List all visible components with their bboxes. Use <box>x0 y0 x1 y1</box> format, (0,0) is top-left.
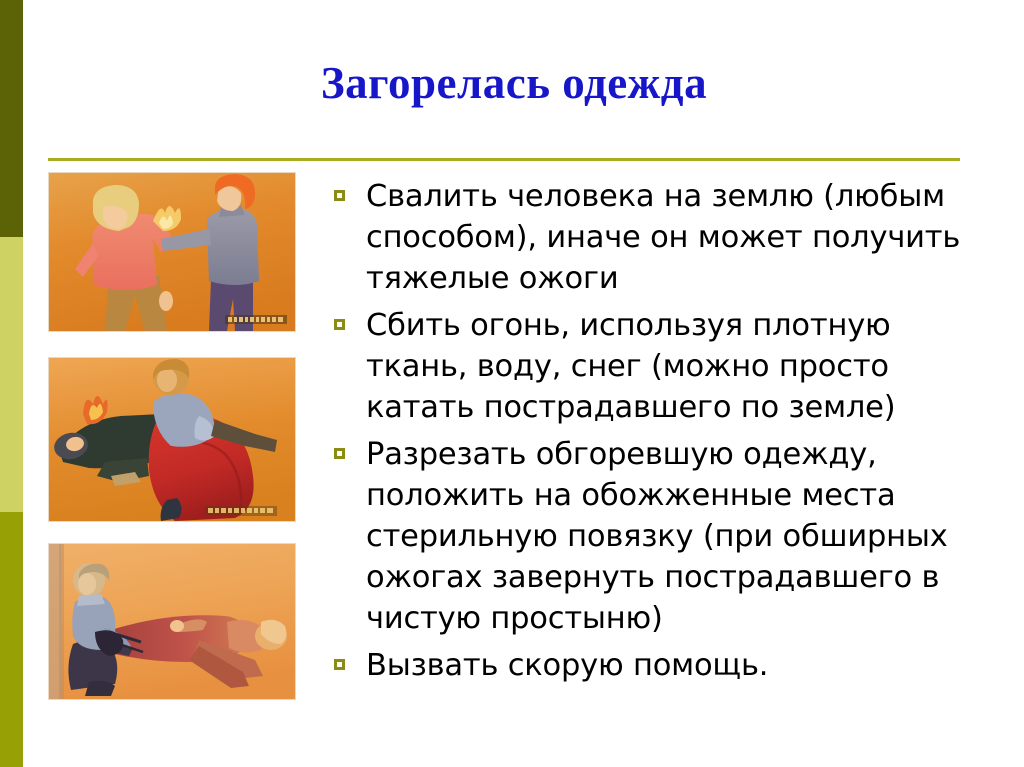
sidebar-segment-bottom <box>0 512 23 767</box>
slide-title: Загорелась одежда <box>64 55 964 111</box>
list-item: Свалить человека на землю (любым способо… <box>334 176 984 299</box>
sidebar-segment-top <box>0 0 23 237</box>
photo-smother-flames-with-blanket <box>48 357 296 522</box>
square-bullet-icon <box>334 448 345 459</box>
title-divider-rule <box>48 158 960 161</box>
photo-cut-burned-clothing-graphic <box>49 544 295 699</box>
square-bullet-icon <box>334 190 345 201</box>
square-bullet-icon <box>334 319 345 330</box>
list-item: Сбить огонь, используя плотную ткань, во… <box>334 305 984 428</box>
list-item-text: Вызвать скорую помощь. <box>366 645 984 686</box>
list-item-text: Разрезать обгоревшую одежду, положить на… <box>366 434 984 639</box>
bullet-list: Свалить человека на землю (любым способо… <box>334 176 984 692</box>
square-bullet-icon <box>334 659 345 670</box>
sidebar-segment-middle <box>0 237 23 512</box>
photo-smother-flames-with-blanket-graphic <box>49 358 295 521</box>
slide-root: Загорелась одежда <box>0 0 1024 767</box>
sidebar-decoration <box>0 0 23 767</box>
photo-cut-burned-clothing <box>48 543 296 700</box>
list-item-text: Сбить огонь, используя плотную ткань, во… <box>366 305 984 428</box>
photo-push-person-to-ground <box>48 172 296 332</box>
list-item-text: Свалить человека на землю (любым способо… <box>366 176 984 299</box>
list-item: Вызвать скорую помощь. <box>334 645 984 686</box>
photo-push-person-to-ground-graphic <box>49 173 295 331</box>
list-item: Разрезать обгоревшую одежду, положить на… <box>334 434 984 639</box>
